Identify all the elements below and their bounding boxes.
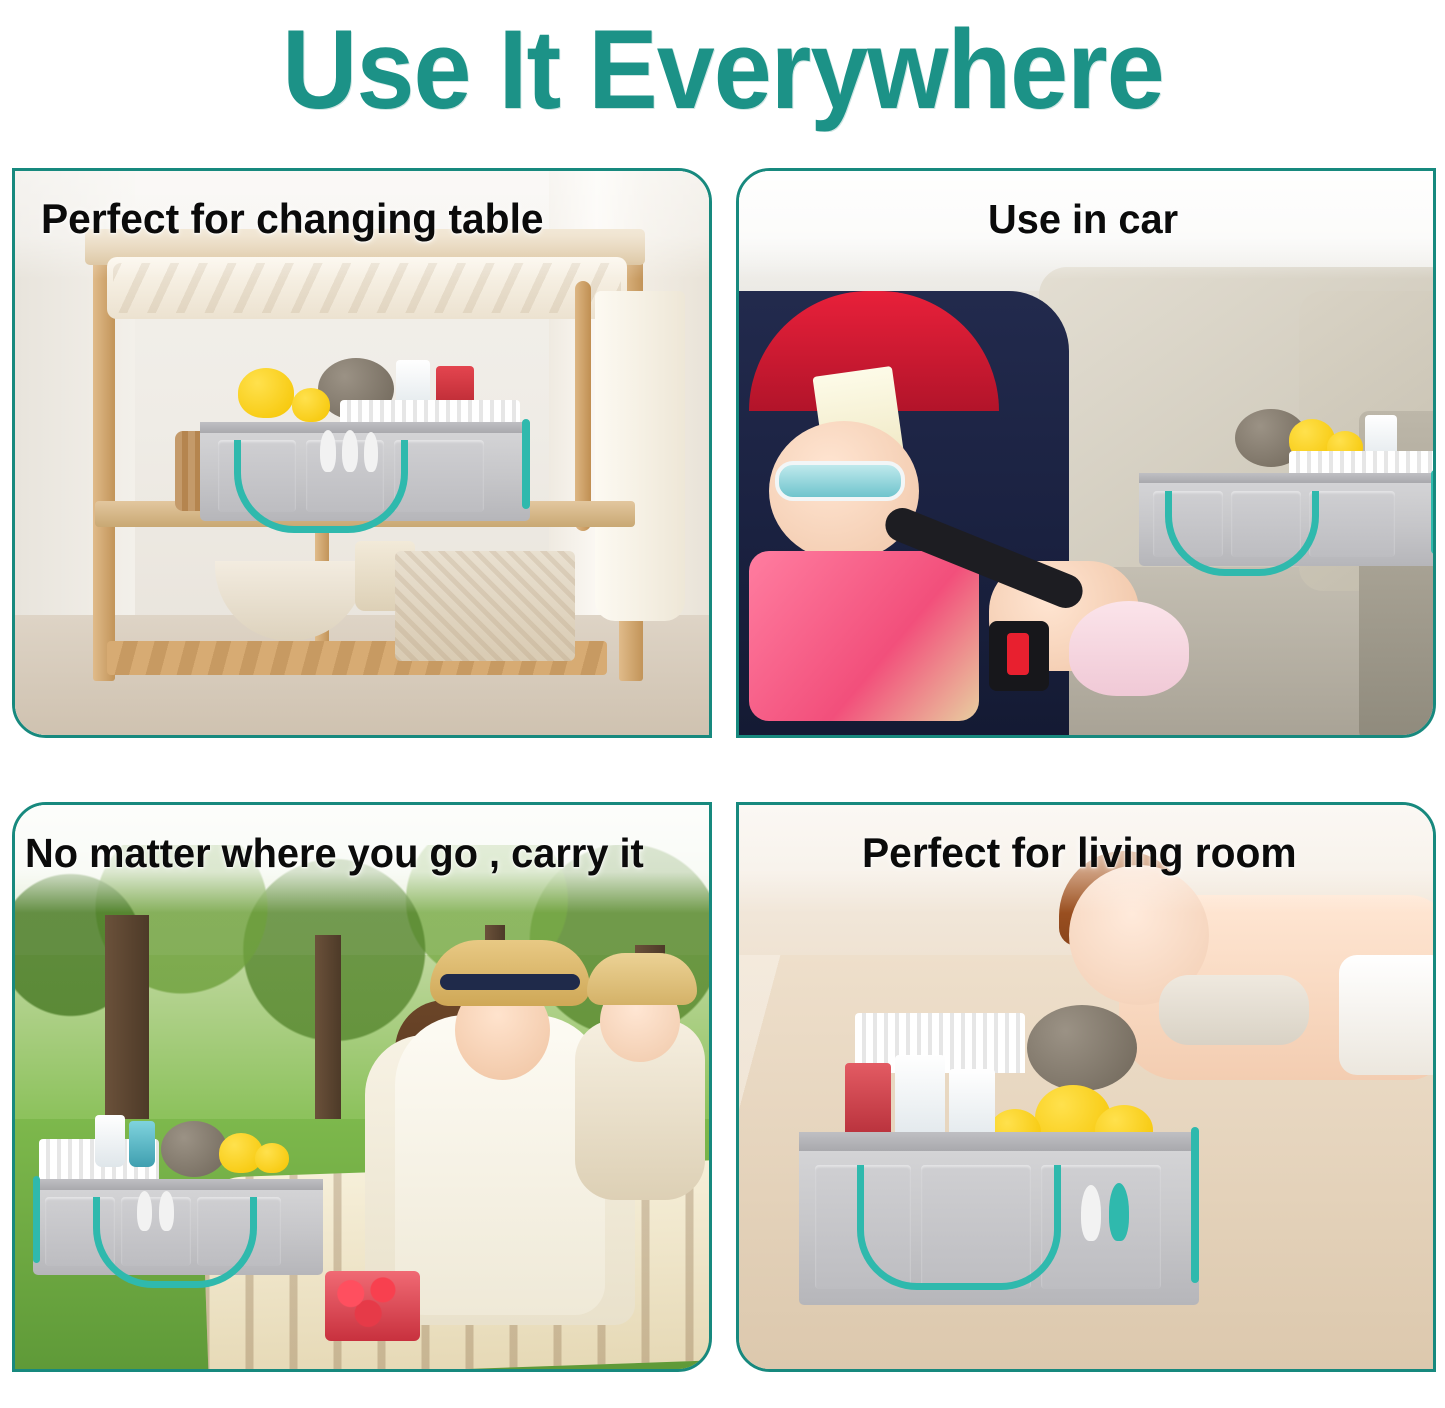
caddy-rim <box>200 422 530 433</box>
rubber-duck <box>292 388 330 422</box>
panel-living-room[interactable]: Perfect for living room <box>736 802 1436 1372</box>
caddy-rim <box>799 1132 1199 1151</box>
scissors <box>1109 1183 1129 1241</box>
baby-diaper <box>1339 955 1433 1075</box>
photo-use-in-car: Use in car <box>739 171 1433 735</box>
caddy-rim <box>1139 473 1433 483</box>
floor-rug <box>15 615 709 735</box>
diaper-caddy-organizer <box>200 366 530 521</box>
caddy-pocket-right <box>1309 491 1395 558</box>
storage-bin <box>395 551 575 661</box>
caddy-handle <box>93 1197 257 1288</box>
panel-changing-table[interactable]: Perfect for changing table <box>12 168 712 738</box>
caddy-handle <box>1165 491 1319 576</box>
photo-changing-table: Perfect for changing table <box>15 171 709 735</box>
photo-living-room: Perfect for living room <box>739 805 1433 1369</box>
plush-hedgehog <box>1027 1005 1137 1091</box>
seat-belt-buckle <box>989 621 1049 691</box>
caddy-handle <box>234 440 408 533</box>
towel-rail <box>575 281 591 531</box>
panel-carry-anywhere[interactable]: No matter where you go , carry it <box>12 802 712 1372</box>
rubber-duck <box>238 368 294 418</box>
diaper-caddy-organizer <box>1139 421 1433 566</box>
sippy-cup <box>129 1121 155 1167</box>
rubber-duck <box>255 1143 289 1173</box>
hanging-towel <box>595 291 685 621</box>
caddy-rim <box>33 1179 323 1190</box>
panel-grid: Perfect for changing table <box>0 168 1445 1408</box>
mother-straw-hat <box>430 940 590 1006</box>
plush-toy <box>161 1121 227 1177</box>
caption-haze <box>739 171 1433 279</box>
caption-haze <box>15 805 709 913</box>
caddy-trim-right <box>1431 470 1433 554</box>
caddy-handle <box>857 1165 1061 1290</box>
panel-use-in-car[interactable]: Use in car <box>736 168 1436 738</box>
grooming-tool <box>1081 1185 1101 1241</box>
baby-sunglasses <box>775 461 905 501</box>
baby-dress <box>749 551 979 721</box>
photo-carry-anywhere: No matter where you go , carry it <box>15 805 709 1369</box>
caption-haze <box>739 805 1433 913</box>
diaper-caddy-organizer <box>33 1125 323 1275</box>
page-title-container: Use It Everywhere <box>0 0 1445 140</box>
baby-sock <box>1069 601 1189 696</box>
table-leg-left <box>93 261 115 681</box>
caption-haze <box>15 171 709 279</box>
strawberry-basket <box>325 1271 420 1341</box>
caddy-trim-left <box>33 1176 40 1263</box>
page-title: Use It Everywhere <box>282 11 1164 129</box>
infographic-page: Use It Everywhere <box>0 0 1445 1408</box>
caddy-trim-right <box>1191 1127 1199 1284</box>
baby-sun-hat <box>587 953 697 1005</box>
baby-bottle <box>95 1115 125 1167</box>
caddy-trim-right <box>522 419 530 509</box>
diaper-caddy-organizer <box>799 1035 1199 1305</box>
